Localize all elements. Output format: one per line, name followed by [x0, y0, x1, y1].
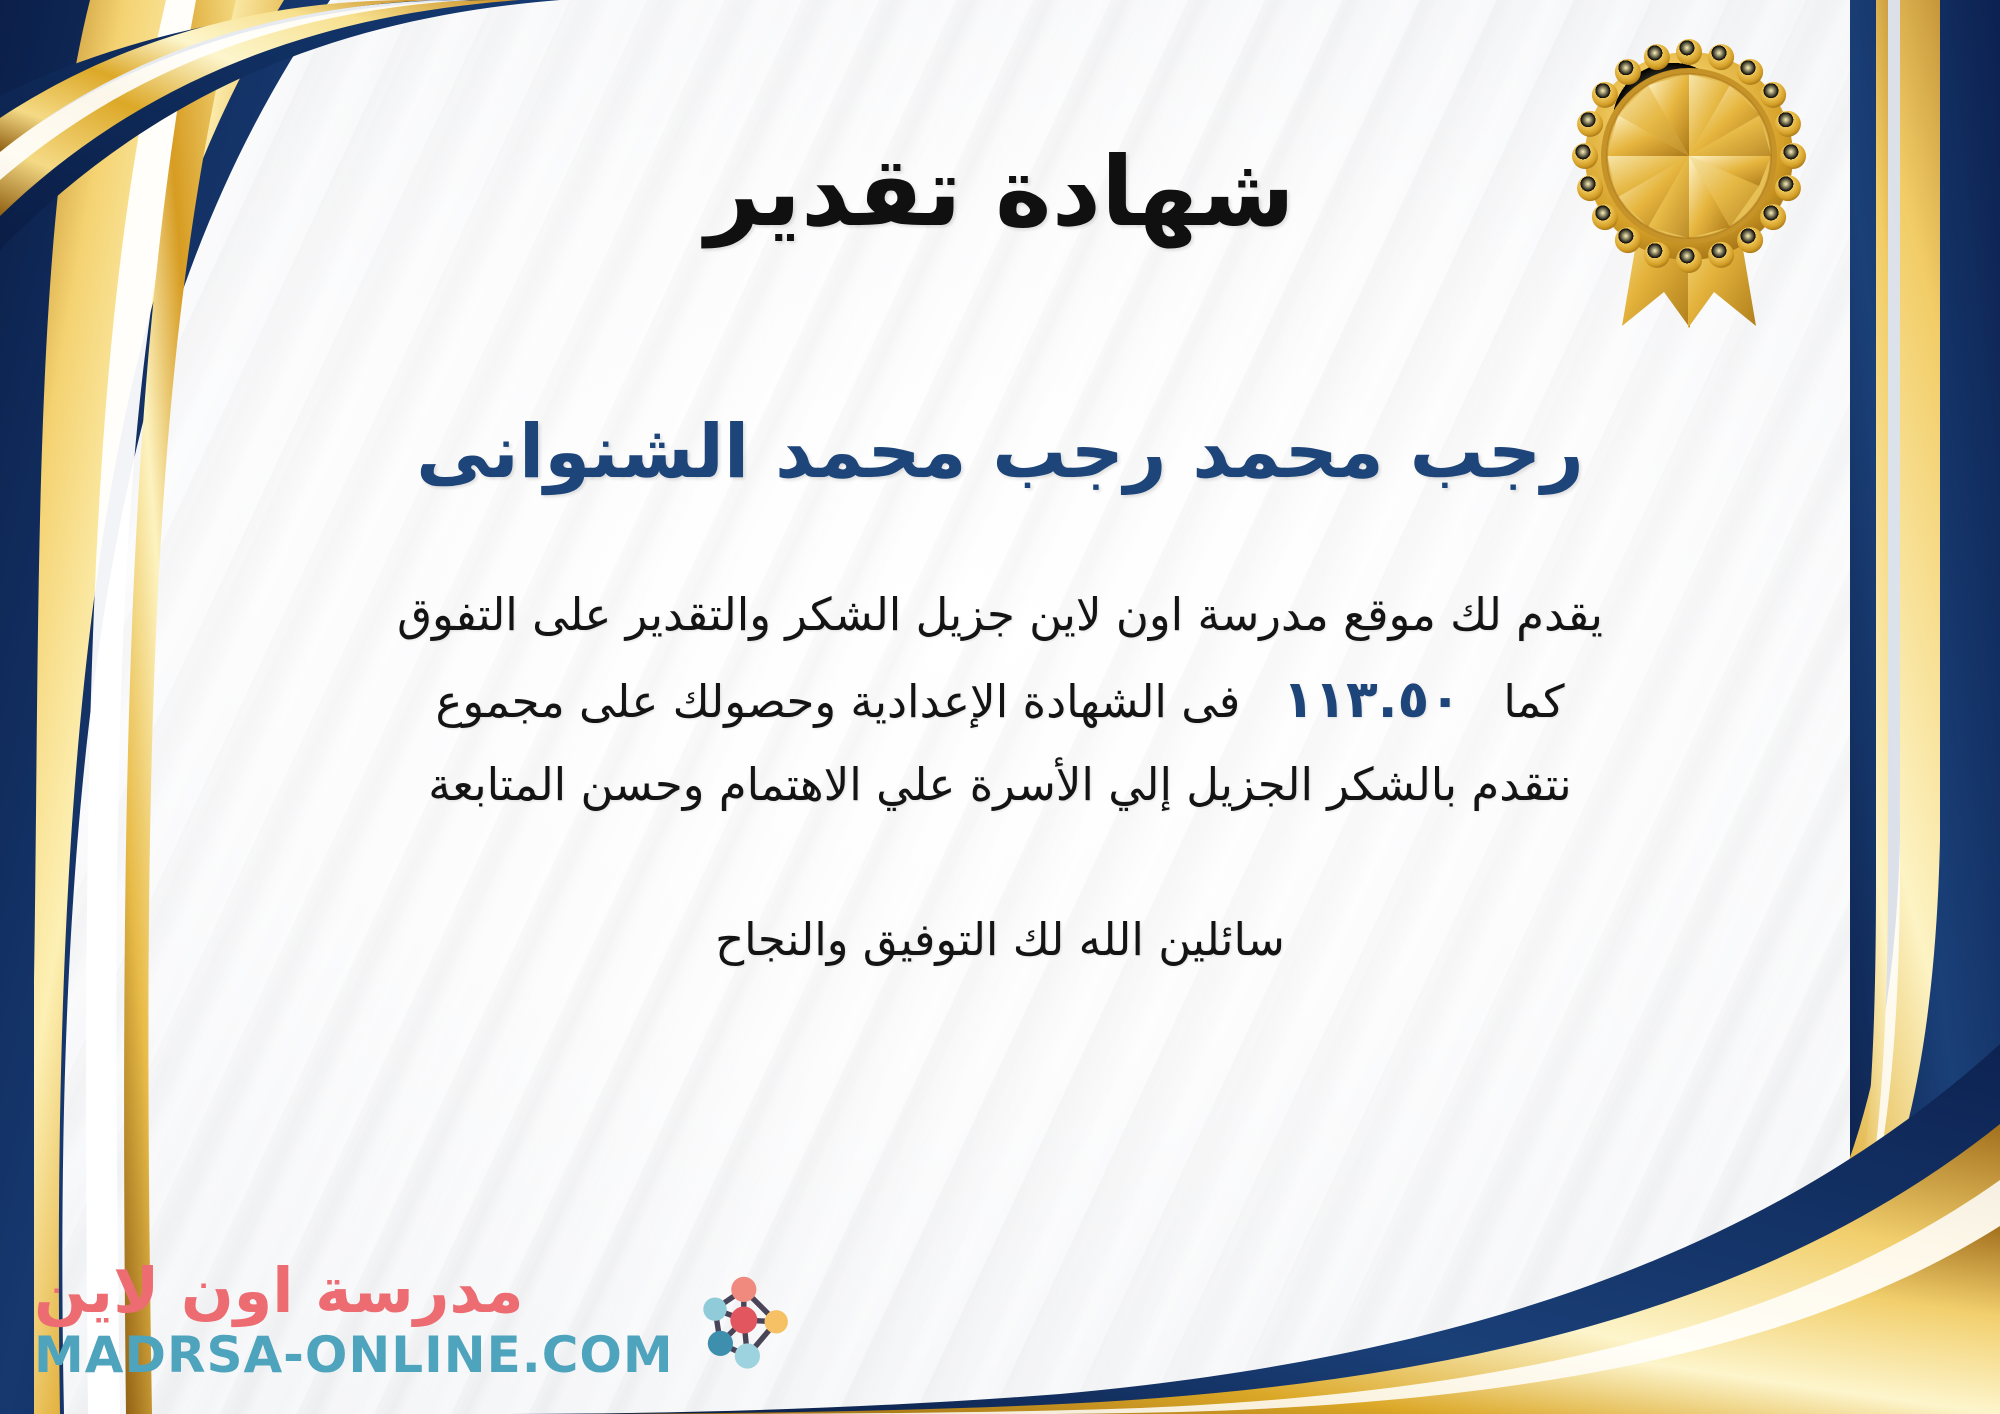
brand-arabic-name: مدرسة اون لاين — [34, 1260, 524, 1322]
body-line-2-suffix: كما — [1503, 675, 1564, 728]
recipient-name: رجب محمد رجب محمد الشنوانى — [416, 406, 1584, 499]
network-graph-icon — [688, 1266, 796, 1374]
body-line-3: نتقدم بالشكر الجزيل إلي الأسرة علي الاهت… — [220, 746, 1780, 825]
total-score-value: ١١٣.٥٠ — [1255, 670, 1489, 730]
brand-logo[interactable]: مدرسة اون لاين MADRSA-ONLINE.COM — [34, 1260, 796, 1380]
certificate-title: شهادة تقدير — [705, 140, 1295, 246]
certificate-body: يقدم لك موقع مدرسة اون لاين جزيل الشكر و… — [220, 576, 1780, 825]
certificate-content: شهادة تقدير رجب محمد رجب محمد الشنوانى ي… — [0, 0, 2000, 1414]
brand-text: مدرسة اون لاين MADRSA-ONLINE.COM — [34, 1260, 674, 1380]
body-line-2: كما ١١٣.٥٠ فى الشهادة الإعدادية وحصولك ع… — [220, 655, 1780, 746]
brand-website-url: MADRSA-ONLINE.COM — [34, 1330, 674, 1380]
body-line-2-prefix: فى الشهادة الإعدادية وحصولك على مجموع — [435, 675, 1240, 728]
certificate-page: شهادة تقدير رجب محمد رجب محمد الشنوانى ي… — [0, 0, 2000, 1414]
closing-wish: سائلين الله لك التوفيق والنجاح — [715, 913, 1285, 966]
body-line-1: يقدم لك موقع مدرسة اون لاين جزيل الشكر و… — [220, 576, 1780, 655]
